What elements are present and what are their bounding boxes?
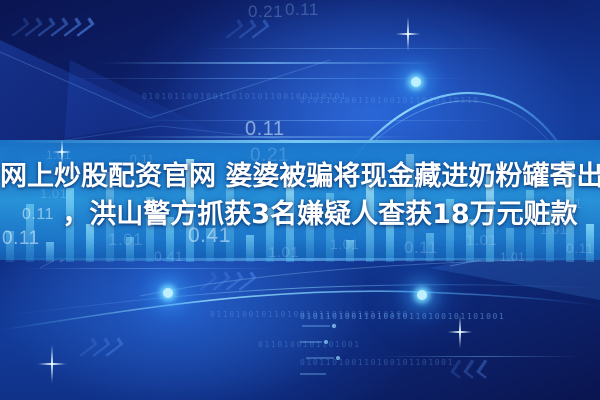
light-hairline [20,268,280,269]
chevron-arrow-icon [202,272,251,290]
glow-node-icon [163,288,173,298]
binary-row: 01011010011010010110100101101001 [300,312,505,321]
glow-node-icon [411,77,421,87]
chevron-arrow-icon [454,360,490,378]
light-hairline [380,356,580,357]
light-streak [120,136,420,138]
binary-row: 0101101001101001011010010110 [300,96,480,105]
chart-bar [6,231,14,262]
chart-bar [246,235,254,262]
light-hairline [200,48,500,49]
chart-bar [426,233,434,262]
chart-bar [346,240,354,262]
headline: 网上炒股配资官网 婆婆被骗将现金藏进奶粉罐寄出 ，洪山警方抓获3名嫌疑人查获18… [0,158,600,234]
binary-row: 0110100101101001 [258,340,361,349]
chevron-arrow-icon [14,18,89,36]
binary-row: 010110100110100101101001 [300,358,454,367]
chevron-arrow-icon [82,338,118,356]
light-hairline [140,120,500,121]
headline-line-2: ，洪山警方抓获3名嫌疑人查获18万元赃款 [0,196,600,234]
light-streak [100,62,440,64]
glow-node-icon [417,290,427,300]
chart-bar [126,237,134,262]
banner-image: 0.110.210.110.211.011.010.110.111.010.41… [0,0,600,400]
headline-line-1: 网上炒股配资官网 婆婆被骗将现金藏进奶粉罐寄出 [0,158,600,196]
chart-bar [46,242,54,262]
chevron-arrow-icon [228,20,264,38]
